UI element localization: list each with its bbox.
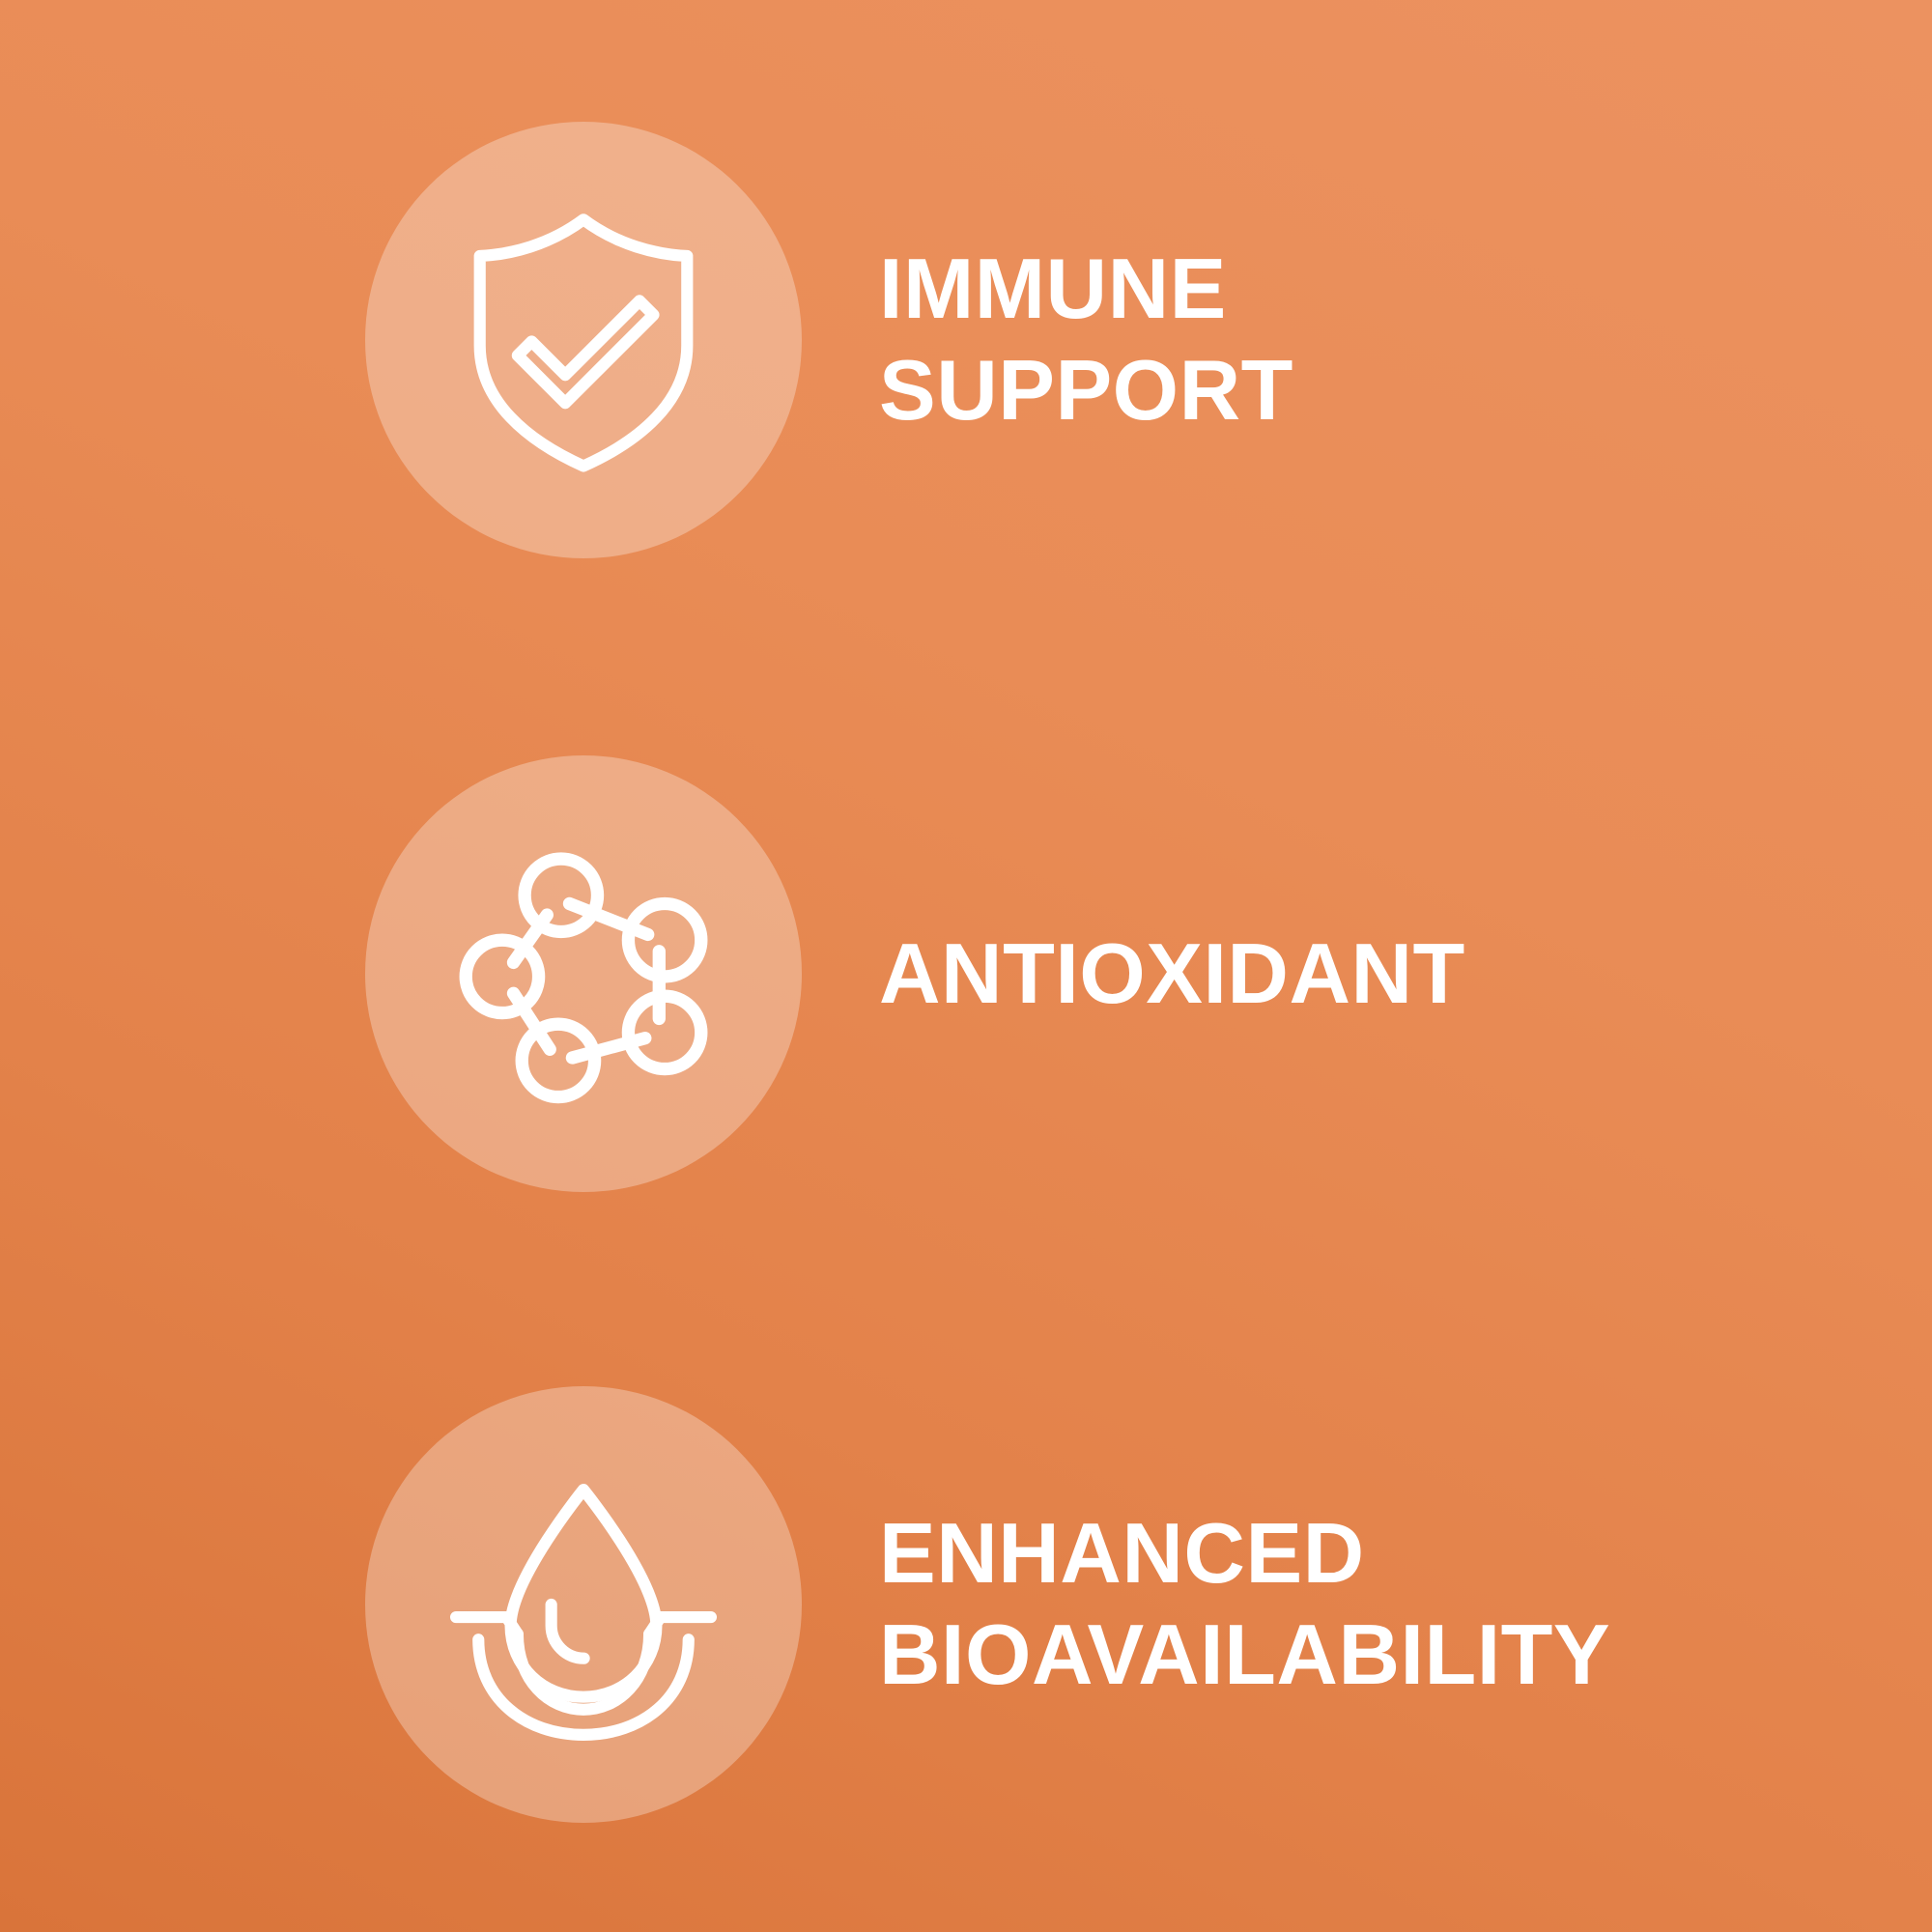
benefits-panel: IMMUNE SUPPORT ANTIOXIDANT (0, 0, 1932, 1932)
icon-badge-enhanced-bioavailability (365, 1386, 802, 1823)
shield-check-icon (443, 200, 724, 480)
benefit-label-immune-support: IMMUNE SUPPORT (879, 239, 1932, 440)
icon-badge-antioxidant (365, 755, 802, 1192)
benefit-item-immune-support: IMMUNE SUPPORT (0, 122, 1932, 558)
benefit-item-enhanced-bioavailability: ENHANCED BIOAVAILABILITY (0, 1386, 1932, 1823)
water-droplet-ripple-icon (443, 1464, 724, 1745)
benefit-item-antioxidant: ANTIOXIDANT (0, 755, 1932, 1192)
benefit-label-enhanced-bioavailability: ENHANCED BIOAVAILABILITY (879, 1503, 1932, 1705)
molecule-network-icon (443, 834, 724, 1114)
icon-badge-immune-support (365, 122, 802, 558)
benefit-label-antioxidant: ANTIOXIDANT (879, 923, 1932, 1025)
